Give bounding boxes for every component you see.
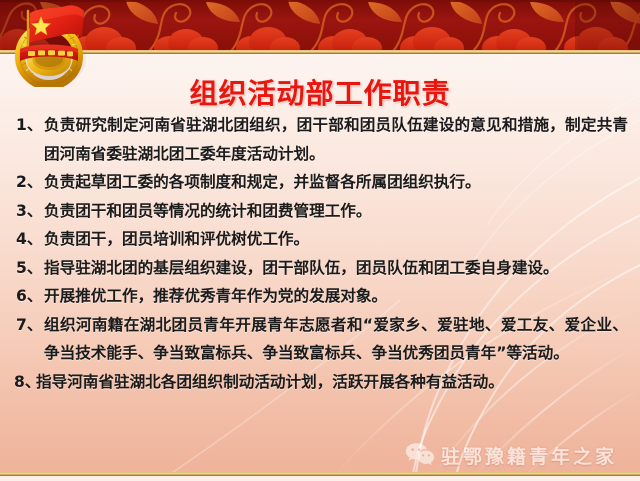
list-item: 5、 指导驻湖北团的基层组织建设，团干部队伍，团员队伍和团工委自身建设。 <box>8 254 628 283</box>
communist-youth-league-emblem <box>8 3 90 87</box>
footer-fill <box>0 476 640 481</box>
list-item-text: 开展推优工作，推荐优秀青年作为党的发展对象。 <box>44 282 628 311</box>
list-item-text: 负责团干，团员培训和评优树优工作。 <box>44 225 628 254</box>
list-item-marker: 6、 <box>8 282 44 311</box>
list-item-marker: 8、 <box>8 368 36 397</box>
watermark-text: 驻鄂豫籍青年之家 <box>441 442 633 469</box>
list-item-marker: 4、 <box>8 225 44 254</box>
list-item: 6、 开展推优工作，推荐优秀青年作为党的发展对象。 <box>8 282 628 311</box>
list-item-marker: 5、 <box>8 254 44 283</box>
list-item: 1、 负责研究制定河南省驻湖北团组织，团干部和团员队伍建设的意见和措施，制定共青… <box>8 111 628 168</box>
wechat-watermark: 驻鄂豫籍青年之家 <box>405 440 633 470</box>
responsibility-list: 1、 负责研究制定河南省驻湖北团组织，团干部和团员队伍建设的意见和措施，制定共青… <box>0 111 640 396</box>
list-item-text: 指导驻湖北团的基层组织建设，团干部队伍，团员队伍和团工委自身建设。 <box>44 254 628 283</box>
list-item-text: 指导河南省驻湖北各团组织制动活动计划，活跃开展各种有益活动。 <box>36 368 628 397</box>
list-item-marker: 3、 <box>8 197 44 226</box>
page-title: 组织活动部工作职责 <box>0 72 640 112</box>
wechat-icon <box>405 442 435 468</box>
list-item-marker: 1、 <box>8 111 44 140</box>
list-item: 4、 负责团干，团员培训和评优树优工作。 <box>8 225 628 254</box>
header-ornament-band <box>0 0 640 51</box>
header-gold-divider <box>0 50 640 54</box>
list-item-marker: 2、 <box>8 168 44 197</box>
list-item-text: 负责起草团工委的各项制度和规定，并监督各所属团组织执行。 <box>44 168 628 197</box>
header-top-line <box>0 0 640 2</box>
list-item: 2、 负责起草团工委的各项制度和规定，并监督各所属团组织执行。 <box>8 168 628 197</box>
list-item: 7、 组织河南籍在湖北团员青年开展青年志愿者和“爱家乡、爱驻地、爱工友、爱企业、… <box>8 311 628 368</box>
presentation-slide: 组织活动部工作职责 1、 负责研究制定河南省驻湖北团组织，团干部和团员队伍建设的… <box>0 0 640 481</box>
list-item-marker: 7、 <box>8 311 44 340</box>
list-item-text: 组织河南籍在湖北团员青年开展青年志愿者和“爱家乡、爱驻地、爱工友、爱企业、争当技… <box>44 311 628 368</box>
list-item-text: 负责团干和团员等情况的统计和团费管理工作。 <box>44 197 628 226</box>
list-item: 8、 指导河南省驻湖北各团组织制动活动计划，活跃开展各种有益活动。 <box>8 368 628 397</box>
list-item-text: 负责研究制定河南省驻湖北团组织，团干部和团员队伍建设的意见和措施，制定共青团河南… <box>44 111 628 168</box>
list-item: 3、 负责团干和团员等情况的统计和团费管理工作。 <box>8 197 628 226</box>
